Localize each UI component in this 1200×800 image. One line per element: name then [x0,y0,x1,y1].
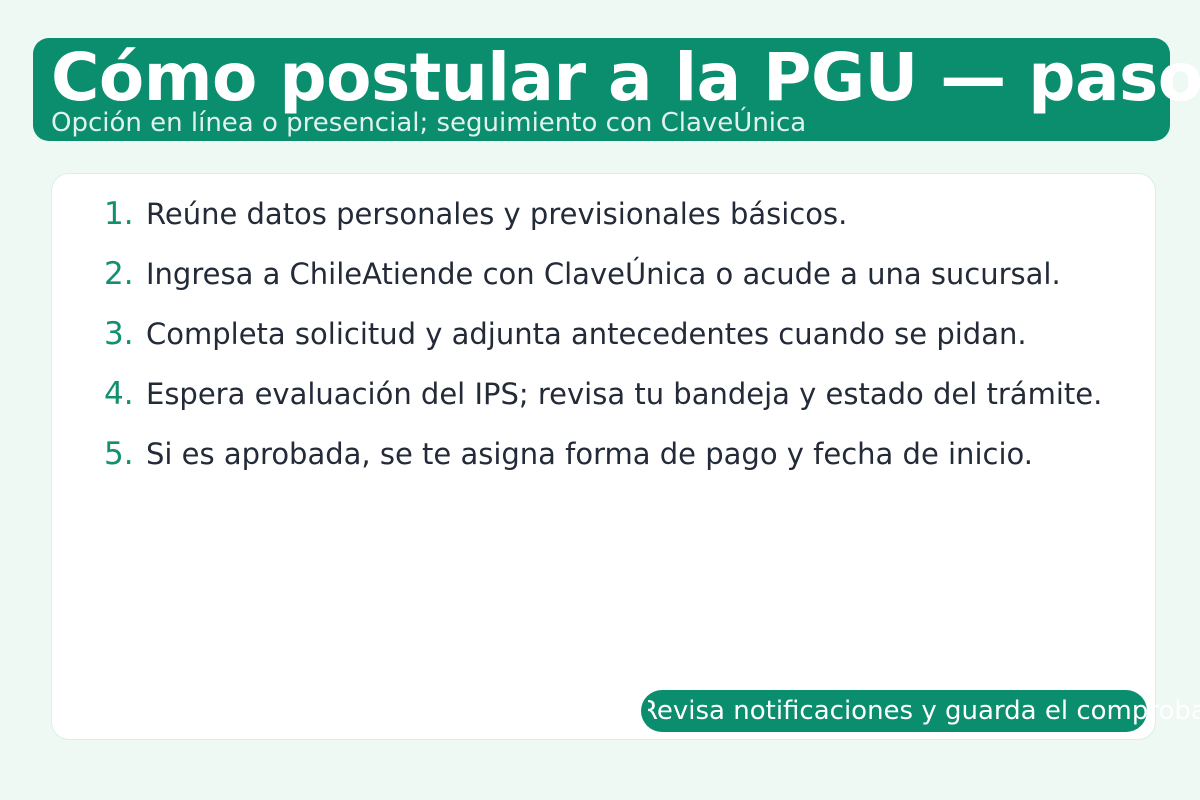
step-number: 4. [104,376,146,412]
footer-badge-label: Revisa notificaciones y guarda el compro… [648,695,1200,727]
list-item: 5. Si es aprobada, se te asigna forma de… [104,436,1200,496]
step-number: 1. [104,196,146,232]
step-text: Completa solicitud y adjunta antecedente… [146,320,1027,349]
step-number: 2. [104,256,146,292]
list-item: 3. Completa solicitud y adjunta antecede… [104,316,1200,376]
page-subtitle: Opción en línea o presencial; seguimient… [51,110,806,136]
step-text: Ingresa a ChileAtiende con ClaveÚnica o … [146,260,1061,289]
step-number: 5. [104,436,146,472]
step-text: Reúne datos personales y previsionales b… [146,200,847,229]
content-card: 1. Reúne datos personales y previsionale… [51,173,1156,740]
list-item: 4. Espera evaluación del IPS; revisa tu … [104,376,1200,436]
step-text: Espera evaluación del IPS; revisa tu ban… [146,380,1102,409]
steps-list: 1. Reúne datos personales y previsionale… [104,196,1200,496]
list-item: 2. Ingresa a ChileAtiende con ClaveÚnica… [104,256,1200,316]
slide-canvas: Cómo postular a la PGU — paso a paso Opc… [0,0,1200,800]
step-text: Si es aprobada, se te asigna forma de pa… [146,440,1033,469]
list-item: 1. Reúne datos personales y previsionale… [104,196,1200,256]
step-number: 3. [104,316,146,352]
